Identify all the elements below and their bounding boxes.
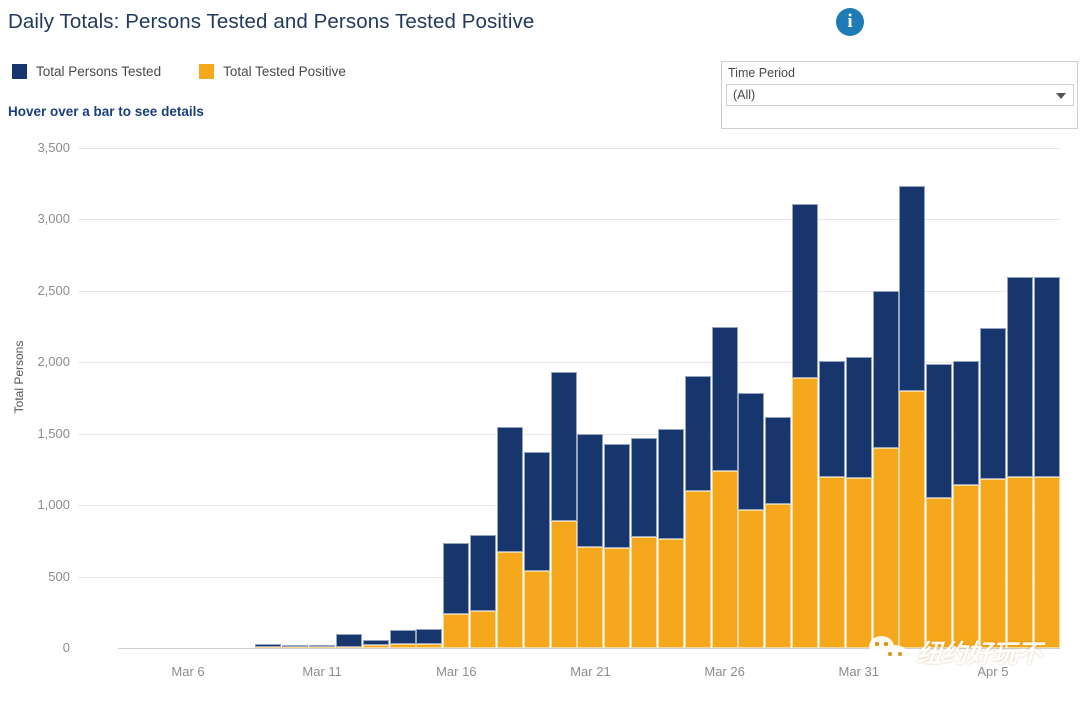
x-axis-tick-label: Mar 31 (839, 664, 879, 679)
chart-bar-segment-tested[interactable] (336, 634, 362, 646)
chart-bar[interactable] (551, 372, 577, 648)
chart-bar-segment-tested[interactable] (658, 429, 684, 540)
x-axis-tick-label: Apr 5 (977, 664, 1008, 679)
chart-bar[interactable] (953, 361, 979, 648)
chart-bar[interactable] (792, 204, 818, 648)
chart-bar[interactable] (658, 429, 684, 648)
y-axis-tick-label: 3,500 (6, 140, 70, 155)
x-axis-tick-label: Mar 21 (570, 664, 610, 679)
chart-bar-segment-positive[interactable] (873, 448, 899, 648)
chart-bar[interactable] (926, 364, 952, 648)
x-axis-tick-label: Mar 11 (302, 664, 342, 679)
chart-bar[interactable] (1034, 277, 1060, 648)
chart-bar[interactable] (497, 427, 523, 648)
chart-bar-segment-tested[interactable] (819, 361, 845, 477)
chart-bar-segment-tested[interactable] (363, 640, 389, 645)
chart-bar-segment-positive[interactable] (738, 510, 764, 648)
chart-bar-segment-positive[interactable] (980, 479, 1006, 648)
chart-bar-segment-tested[interactable] (873, 291, 899, 448)
chart-bar-segment-tested[interactable] (926, 364, 952, 498)
chart-bar-segment-positive[interactable] (577, 547, 603, 648)
chart-bar-segment-positive[interactable] (631, 537, 657, 648)
y-axis-tick-label: 1,500 (6, 426, 70, 441)
chart-bar-segment-tested[interactable] (712, 327, 738, 471)
chart-bar-segment-positive[interactable] (551, 521, 577, 648)
chart-bar-segment-positive[interactable] (926, 498, 952, 648)
chart-bar-segment-tested[interactable] (390, 630, 416, 644)
chart-bar-segment-positive[interactable] (497, 552, 523, 648)
chart-bar[interactable] (604, 444, 630, 648)
chart-bar-segment-tested[interactable] (470, 535, 496, 611)
chart-bar[interactable] (846, 357, 872, 648)
chart-bar-segment-positive[interactable] (604, 548, 630, 648)
chart-bar-segment-tested[interactable] (604, 444, 630, 548)
chart-bar-segment-tested[interactable] (631, 438, 657, 537)
chart-bar-segment-positive[interactable] (443, 614, 469, 648)
chart-bar[interactable] (1007, 277, 1033, 648)
chart-bar-segment-tested[interactable] (899, 186, 925, 391)
chart-bar-segment-positive[interactable] (792, 378, 818, 648)
chart-bar-segment-positive[interactable] (1007, 477, 1033, 648)
chart-bar-segment-tested[interactable] (282, 645, 308, 647)
chart-bar-segment-tested[interactable] (1007, 277, 1033, 477)
chart-bar[interactable] (712, 327, 738, 648)
chart-bar[interactable] (336, 634, 362, 648)
chart-bar[interactable] (738, 393, 764, 648)
chart-bar-segment-tested[interactable] (685, 376, 711, 491)
chart-bar-segment-tested[interactable] (980, 328, 1006, 479)
chart-bar-segment-positive[interactable] (658, 539, 684, 648)
y-axis-tick-label: 500 (6, 569, 70, 584)
chart-bar[interactable] (873, 291, 899, 648)
chart-bar-segment-tested[interactable] (551, 372, 577, 521)
y-axis-tick-label: 2,000 (6, 354, 70, 369)
chart-bar-segment-tested[interactable] (309, 645, 335, 647)
y-axis-tick-label: 0 (6, 640, 70, 655)
chart-bar-segment-positive[interactable] (524, 571, 550, 648)
chart-bar-segment-tested[interactable] (1034, 277, 1060, 477)
chart-bar-segment-tested[interactable] (846, 357, 872, 478)
chart-bar[interactable] (390, 630, 416, 648)
chart-bar-segment-tested[interactable] (443, 543, 469, 614)
chart-bar-segment-positive[interactable] (712, 471, 738, 648)
chart-bar-segment-positive[interactable] (953, 485, 979, 648)
chart-bar-segment-tested[interactable] (255, 644, 281, 647)
y-axis-tick-label: 2,500 (6, 283, 70, 298)
gridline (78, 148, 1060, 149)
chart-bar[interactable] (577, 434, 603, 648)
x-axis-tick-label: Mar 26 (704, 664, 744, 679)
chart-bar[interactable] (470, 535, 496, 648)
chart-bar[interactable] (416, 629, 442, 648)
chart-bar-segment-tested[interactable] (953, 361, 979, 485)
chart-bar-segment-positive[interactable] (765, 504, 791, 648)
chart-bar-segment-positive[interactable] (819, 477, 845, 648)
chart-bar-segment-tested[interactable] (416, 629, 442, 643)
chart-plot-area: Total Persons 05001,0001,5002,0002,5003,… (0, 0, 1080, 702)
chart-bar[interactable] (899, 186, 925, 648)
y-axis-tick-label: 1,000 (6, 497, 70, 512)
chart-bar[interactable] (685, 376, 711, 648)
x-axis-tick-label: Mar 16 (436, 664, 476, 679)
y-axis-tick-label: 3,000 (6, 211, 70, 226)
chart-bar-segment-tested[interactable] (792, 204, 818, 378)
chart-bar-segment-tested[interactable] (497, 427, 523, 552)
x-axis-line (118, 648, 1060, 649)
chart-bar-segment-positive[interactable] (470, 611, 496, 648)
chart-bar[interactable] (765, 417, 791, 648)
chart-bar-segment-tested[interactable] (524, 452, 550, 571)
chart-bar-segment-positive[interactable] (1034, 477, 1060, 648)
chart-bar-segment-tested[interactable] (577, 434, 603, 547)
chart-bar-segment-positive[interactable] (685, 491, 711, 648)
chart-bar-segment-tested[interactable] (738, 393, 764, 510)
chart-bar-segment-tested[interactable] (765, 417, 791, 505)
chart-bar[interactable] (819, 361, 845, 648)
chart-bar[interactable] (631, 438, 657, 648)
chart-bar[interactable] (443, 543, 469, 648)
y-axis-title: Total Persons (12, 322, 26, 432)
chart-bar-segment-positive[interactable] (899, 391, 925, 648)
x-axis-tick-label: Mar 6 (171, 664, 204, 679)
chart-bar[interactable] (980, 328, 1006, 648)
chart-bar[interactable] (363, 640, 389, 648)
chart-bar-segment-positive[interactable] (846, 478, 872, 648)
chart-bar[interactable] (524, 452, 550, 648)
